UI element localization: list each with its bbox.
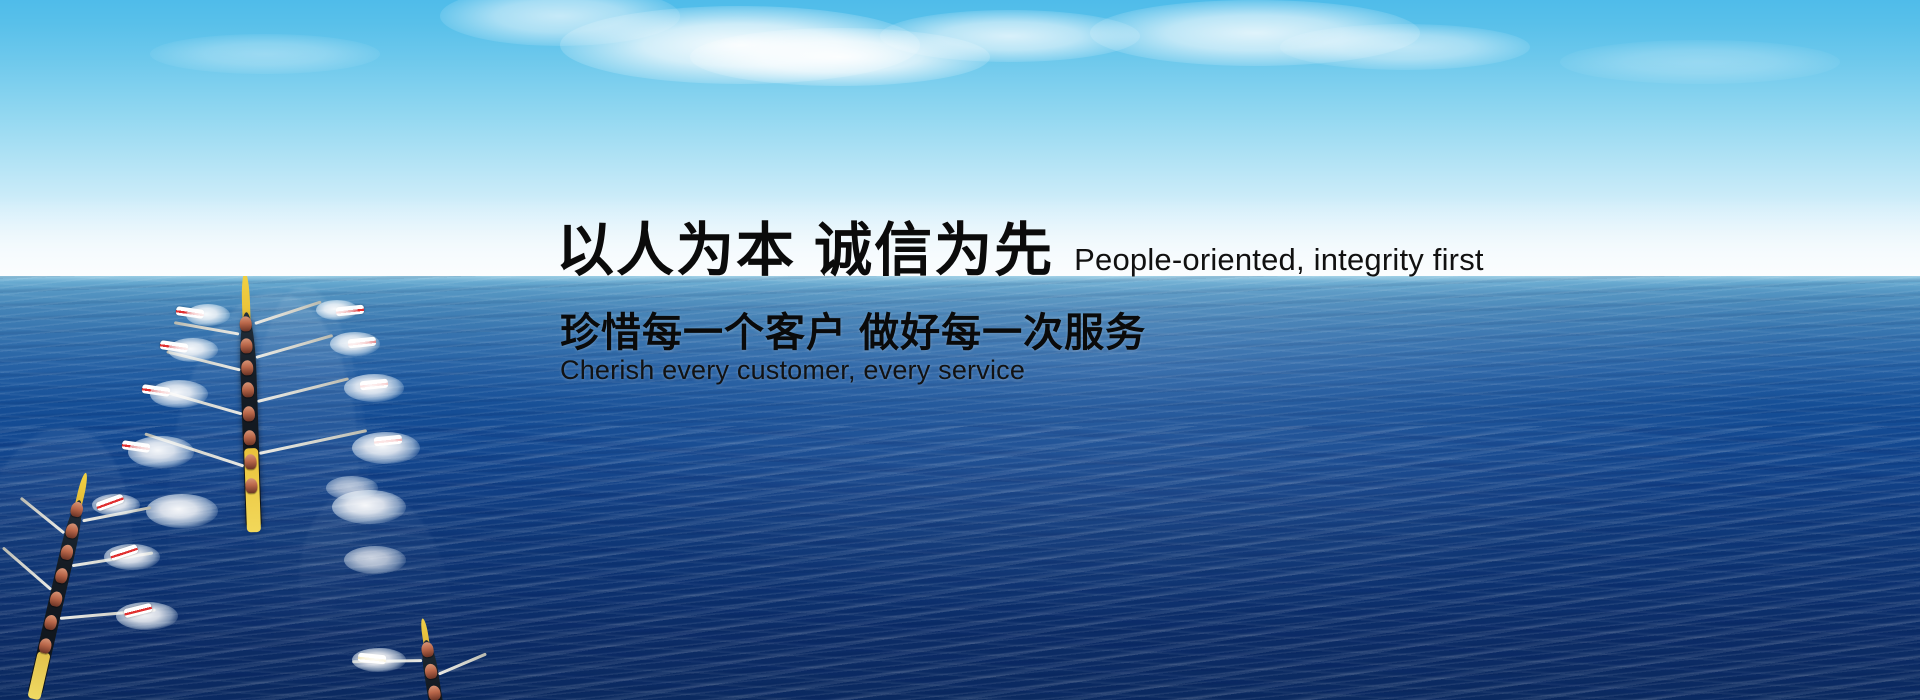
subheadline-chinese: 珍惜每一个客户 做好每一次服务	[560, 300, 1146, 358]
wispy-clouds	[880, 10, 1140, 62]
oar-splash-foam	[330, 332, 380, 356]
oar-splash-foam	[128, 436, 194, 468]
rowing-crew-member	[243, 430, 256, 445]
oar-splash-foam	[352, 648, 406, 672]
wispy-clouds	[1090, 0, 1420, 66]
subheadline-english: Cherish every customer, every service	[560, 355, 1025, 386]
rowing-crew-member	[420, 641, 434, 658]
racing-rowing-eight	[227, 276, 282, 533]
oar-splash-foam	[344, 374, 404, 402]
wispy-clouds	[150, 34, 380, 74]
headline-english: People-oriented, integrity first	[1074, 242, 1484, 278]
rowing-crew-member	[242, 382, 255, 397]
wispy-clouds	[560, 6, 920, 84]
headline-row: 以人为本 诚信为先 People-oriented, integrity fir…	[556, 222, 1484, 280]
banner-copy: 以人为本 诚信为先 People-oriented, integrity fir…	[556, 222, 1886, 492]
wispy-clouds	[690, 28, 990, 86]
wispy-clouds	[1280, 24, 1530, 70]
rowing-crew-member	[245, 478, 258, 493]
wispy-clouds	[440, 0, 680, 46]
rowing-crew-member	[244, 454, 257, 469]
oar-splash-foam	[352, 432, 420, 464]
rowing-crew-member	[239, 316, 252, 331]
rowing-crew-member	[243, 406, 256, 421]
oar-splash-foam	[146, 494, 218, 528]
wispy-clouds	[1560, 40, 1840, 84]
oar-splash-foam	[186, 304, 230, 326]
oar-splash-foam	[326, 476, 378, 500]
oar-splash-foam	[344, 546, 406, 574]
rowing-crew-member	[240, 338, 253, 353]
hero-banner: 以人为本 诚信为先 People-oriented, integrity fir…	[0, 0, 1920, 700]
oar-splash-foam	[168, 338, 218, 362]
oar-splash-foam	[150, 380, 208, 408]
headline-chinese: 以人为本 诚信为先	[556, 222, 1054, 280]
oar-splash-foam	[316, 300, 358, 320]
rowing-crew-member	[241, 360, 254, 375]
